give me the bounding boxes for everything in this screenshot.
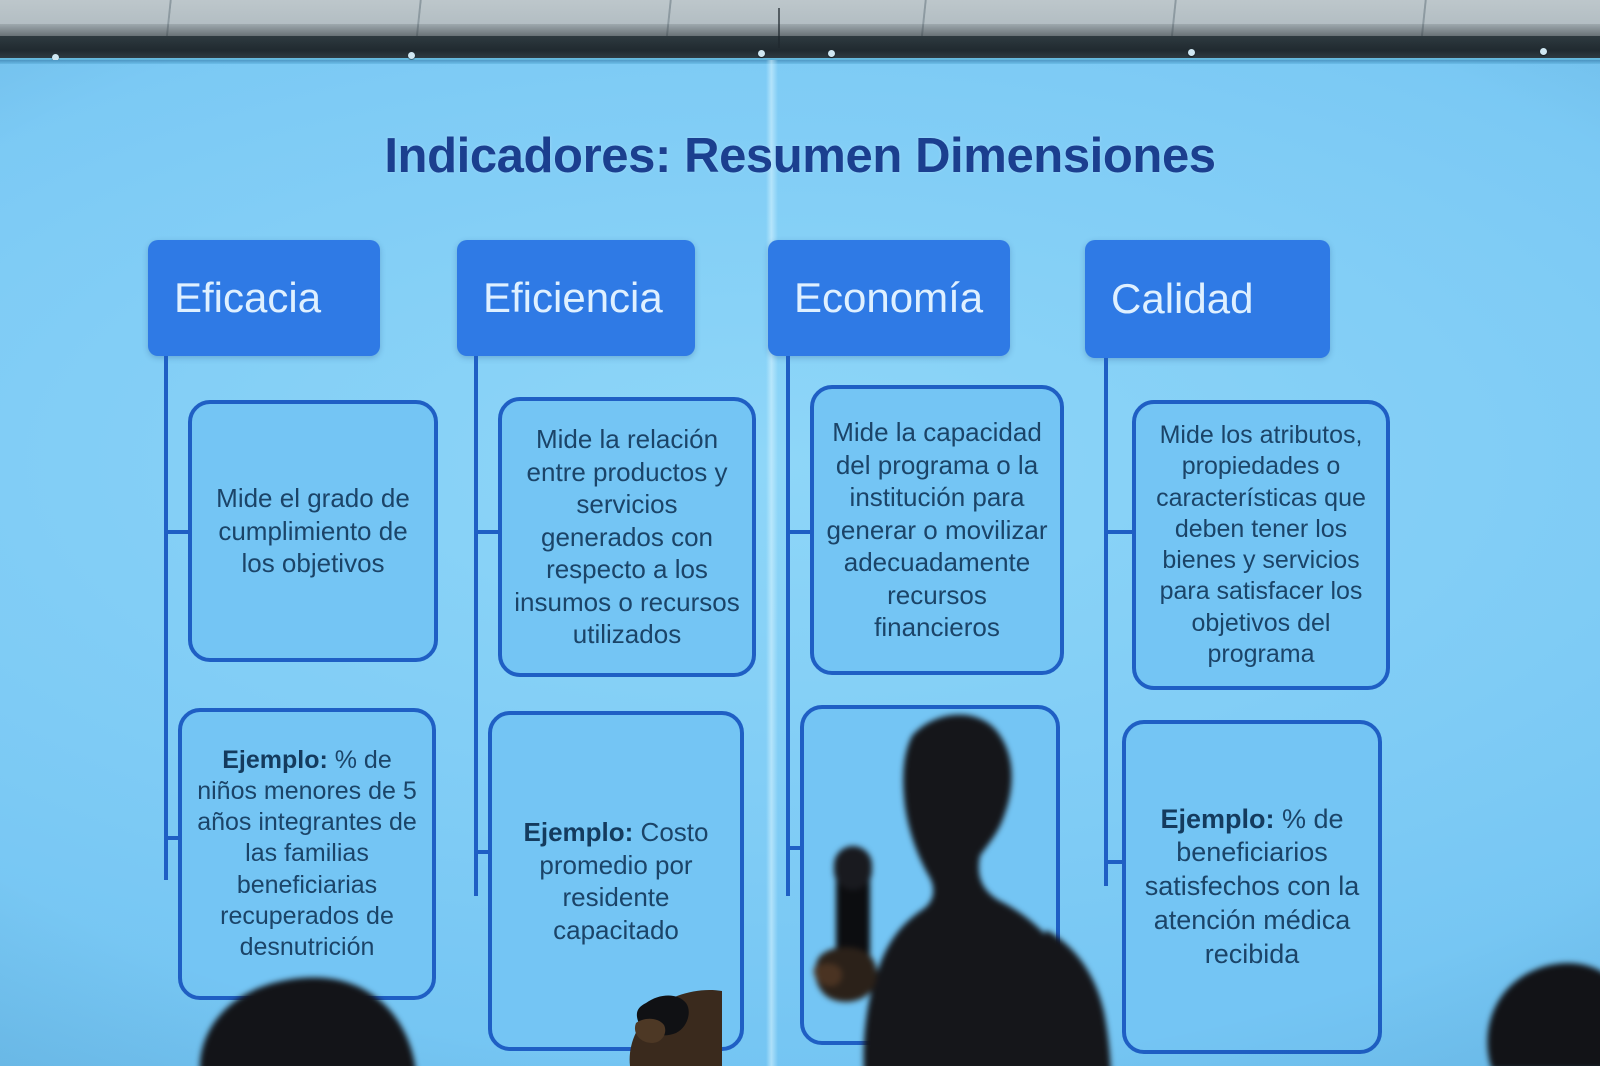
example-label-calidad: Ejemplo:	[1160, 804, 1274, 834]
definition-card-calidad: Mide los atributos, propiedades o caract…	[1132, 400, 1390, 690]
header-economia[interactable]: Economía	[768, 240, 1010, 356]
connector-trunk-eficiencia	[474, 356, 478, 896]
definition-card-eficacia: Mide el grado de cumplimiento de los obj…	[188, 400, 438, 662]
screw-dot	[758, 50, 765, 57]
header-eficacia[interactable]: Eficacia	[148, 240, 380, 356]
dimensions-grid: Eficacia Mide el grado de cumplimiento d…	[0, 60, 1600, 1066]
example-card-economia	[800, 705, 1060, 1045]
presenter-hand-clicker	[626, 985, 722, 1066]
screw-dot	[1540, 48, 1547, 55]
screw-dot	[1188, 49, 1195, 56]
example-text-eficacia: % de niños menores de 5 años integrantes…	[197, 746, 417, 962]
screw-dot	[408, 52, 415, 59]
example-label-eficacia: Ejemplo:	[222, 746, 328, 774]
example-card-calidad: Ejemplo: % de beneficiarios satisfechos …	[1122, 720, 1382, 1054]
screw-dot	[828, 50, 835, 57]
presentation-photo: Indicadores: Resumen Dimensiones Eficaci…	[0, 0, 1600, 1066]
connector-trunk-calidad	[1104, 358, 1108, 886]
example-label-eficiencia: Ejemplo:	[524, 817, 634, 847]
definition-card-economia: Mide la capacidad del programa o la inst…	[810, 385, 1064, 675]
header-eficiencia[interactable]: Eficiencia	[457, 240, 695, 356]
definition-card-eficiencia: Mide la relación entre productos y servi…	[498, 397, 756, 677]
connector-trunk-eficacia	[164, 356, 168, 880]
header-calidad[interactable]: Calidad	[1085, 240, 1330, 358]
example-card-eficacia: Ejemplo: % de niños menores de 5 años in…	[178, 708, 436, 1000]
projection-screen: Indicadores: Resumen Dimensiones Eficaci…	[0, 60, 1600, 1066]
ceiling-seam	[778, 8, 780, 48]
connector-trunk-economia	[786, 356, 790, 896]
